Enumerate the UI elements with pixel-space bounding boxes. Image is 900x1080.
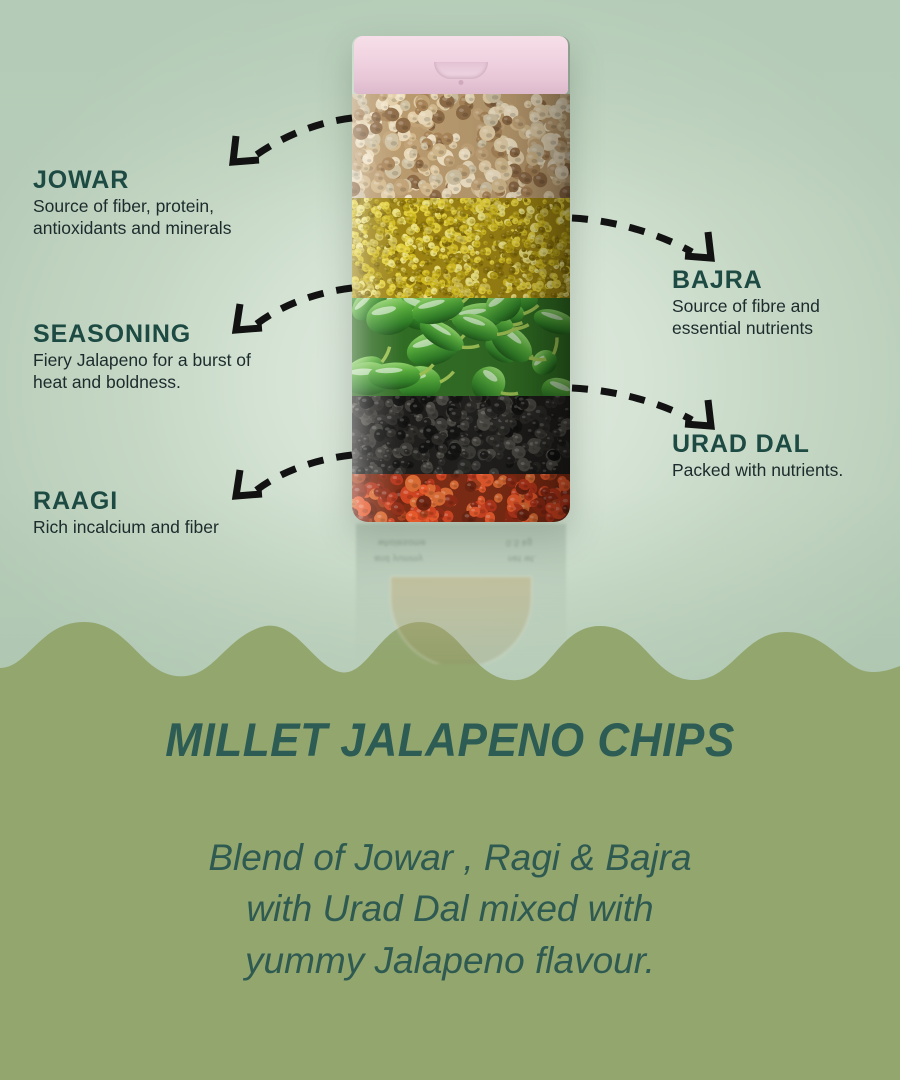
callout-urad-dal: URAD DAL Packed with nutrients. bbox=[672, 432, 900, 482]
callout-jowar-heading: JOWAR bbox=[33, 168, 333, 193]
callout-raagi-desc: Rich incalcium and fiber bbox=[33, 517, 353, 539]
callout-bajra-heading: BAJRA bbox=[672, 268, 900, 293]
reflection-text-d: net wt. bbox=[508, 554, 537, 564]
cap-dot bbox=[459, 80, 464, 85]
product-description-line3: yummy Jalapeno flavour. bbox=[0, 935, 900, 986]
callout-raagi-heading: RAAGI bbox=[33, 489, 353, 514]
ingredient-band-raagi bbox=[352, 474, 570, 522]
callout-seasoning-desc: Fiery Jalapeno for a burst of heat and b… bbox=[33, 350, 343, 393]
callout-jowar-desc: Source of fiber, protein, antioxidants a… bbox=[33, 196, 333, 239]
callout-seasoning: SEASONING Fiery Jalapeno for a burst of … bbox=[33, 322, 343, 393]
callout-urad-dal-heading: URAD DAL bbox=[672, 432, 900, 457]
product-title: MILLET JALAPENO CHIPS bbox=[27, 712, 873, 767]
product-description: Blend of Jowar , Ragi & Bajra with Urad … bbox=[0, 832, 900, 986]
callout-jowar-line1: Source of fiber, protein, bbox=[33, 196, 214, 216]
callout-raagi: RAAGI Rich incalcium and fiber bbox=[33, 489, 353, 539]
callout-urad-dal-desc: Packed with nutrients. bbox=[672, 460, 900, 482]
callout-raagi-line1: Rich incalcium and fiber bbox=[33, 517, 219, 537]
callout-urad-dal-line1: Packed with nutrients. bbox=[672, 460, 843, 480]
callout-jowar-line2: antioxidants and minerals bbox=[33, 218, 231, 238]
callout-bajra: BAJRA Source of fibre and essential nutr… bbox=[672, 268, 900, 339]
callout-seasoning-line1: Fiery Jalapeno for a burst of bbox=[33, 350, 251, 370]
reflection-text-c: 0.5 kg bbox=[506, 538, 532, 548]
ingredient-band-jowar bbox=[352, 94, 570, 198]
infographic-canvas: wholesome and yummy 0.5 kg net wt. JOWAR bbox=[0, 0, 900, 1080]
reflection-text-b: and yummy bbox=[374, 554, 423, 564]
callout-bajra-line1: Source of fibre and bbox=[672, 296, 820, 316]
reflection-bowl bbox=[390, 576, 532, 664]
callout-seasoning-line2: heat and boldness. bbox=[33, 372, 181, 392]
callout-bajra-desc: Source of fibre and essential nutrients bbox=[672, 296, 900, 339]
cap-thumb-notch bbox=[434, 62, 488, 79]
ingredient-band-bajra bbox=[352, 198, 570, 298]
ingredient-band-jalapeno bbox=[352, 298, 570, 396]
reflection-text-a: wholesome bbox=[378, 538, 426, 548]
jar-body bbox=[352, 36, 570, 522]
callout-jowar: JOWAR Source of fiber, protein, antioxid… bbox=[33, 168, 333, 239]
jar-cap[interactable] bbox=[354, 36, 568, 94]
ingredient-band-urad-dal bbox=[352, 396, 570, 474]
callout-seasoning-heading: SEASONING bbox=[33, 322, 343, 347]
callout-bajra-line2: essential nutrients bbox=[672, 318, 813, 338]
product-jar[interactable]: wholesome and yummy 0.5 kg net wt. bbox=[352, 36, 570, 636]
product-description-line2: with Urad Dal mixed with bbox=[0, 883, 900, 934]
product-description-line1: Blend of Jowar , Ragi & Bajra bbox=[0, 832, 900, 883]
jar-reflection: wholesome and yummy 0.5 kg net wt. bbox=[356, 524, 566, 664]
